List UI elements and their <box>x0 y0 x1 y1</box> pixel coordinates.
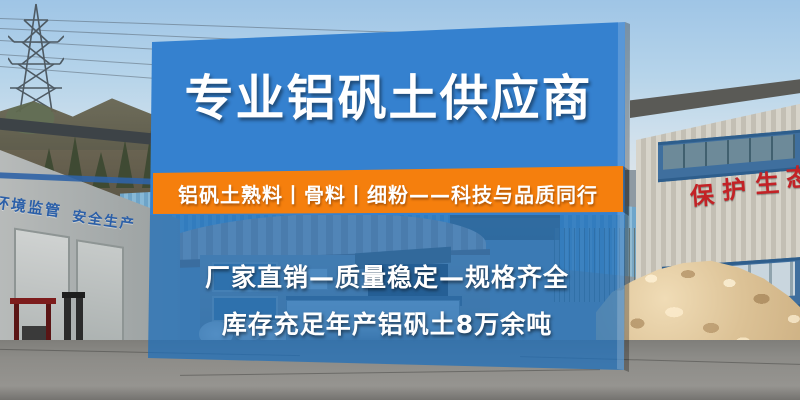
promo-banner: 环境监管 安全生产 <box>0 0 800 400</box>
subtitle-line-2: 库存充足年产铝矾土8万余吨 <box>150 305 624 341</box>
bottom-vignette <box>0 386 800 400</box>
right-building-sign-char-4: 态 <box>785 157 800 194</box>
ribbon-text: 铝矾土熟料丨骨料丨细粉——科技与品质同行 <box>153 179 623 208</box>
headline: 专业铝矾土供应商 <box>152 74 625 123</box>
subtitle-line-1: 厂家直销—质量稳定—规格齐全 <box>150 258 624 294</box>
right-building-sign-char-3: 生 <box>754 163 780 200</box>
right-building-sign-char-1: 保 <box>689 175 715 212</box>
right-building-sign-char-2: 护 <box>721 169 747 206</box>
